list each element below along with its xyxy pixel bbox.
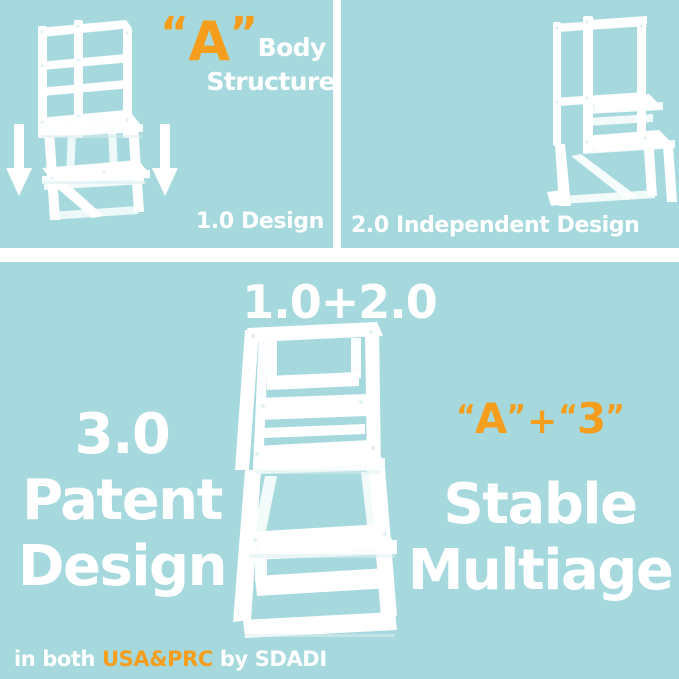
open-quote-glyph: “	[160, 14, 188, 54]
right-line-multiage: Multiage	[404, 538, 676, 604]
close-quote-glyph: ”	[229, 14, 257, 54]
highlight-letter-a: A	[188, 16, 229, 67]
headline-word-body: Body	[258, 35, 326, 61]
formula-open-quote-2: “	[558, 399, 577, 434]
headline-a-body-structure: “A”Body Structure	[160, 14, 333, 95]
right-headline-stack: “A”+“3” Stable Multiage	[404, 398, 676, 604]
footer-highlight-usa-prc: USA&PRC	[102, 647, 213, 671]
left-line-3-0: 3.0	[8, 402, 236, 468]
learning-tower-1-0-illustration	[8, 6, 168, 236]
formula-a-plus-3: “A”+“3”	[404, 398, 676, 440]
panel-2-0-independent-design: “3”Adjustable Heights 2.0 Independent De…	[341, 0, 679, 248]
title-1-0-plus-2-0: 1.0+2.0	[0, 279, 679, 326]
caption-1-0-design: 1.0 Design	[196, 209, 324, 234]
headline-word-structure: Structure	[160, 69, 333, 95]
footer-prefix: in both	[14, 647, 102, 671]
panel-1-0-design: “A”Body Structure 1.0 Design	[0, 0, 333, 248]
left-line-design: Design	[8, 534, 236, 600]
learning-tower-2-0-illustration	[525, 6, 679, 228]
footer-patent-note: in both USA&PRC by SDADI	[14, 647, 327, 671]
formula-char-a: A	[475, 394, 507, 443]
down-arrow-right-icon	[152, 124, 178, 196]
down-arrow-left-icon	[6, 124, 32, 196]
formula-char-3: 3	[577, 394, 605, 443]
formula-close-quote-2: ”	[605, 399, 624, 434]
formula-close-quote-1: ”	[506, 399, 525, 434]
caption-2-0-independent-design: 2.0 Independent Design	[351, 213, 639, 238]
left-line-patent: Patent	[8, 468, 236, 534]
footer-suffix: by SDADI	[213, 647, 327, 671]
panel-3-0-patent-design: 1.0+2.0	[0, 262, 679, 679]
left-headline-stack: 3.0 Patent Design	[8, 402, 236, 600]
formula-plus-sign: +	[525, 401, 558, 442]
right-line-stable: Stable	[404, 472, 676, 538]
product-infographic: “A”Body Structure 1.0 Design	[0, 0, 679, 679]
formula-open-quote-1: “	[456, 399, 475, 434]
